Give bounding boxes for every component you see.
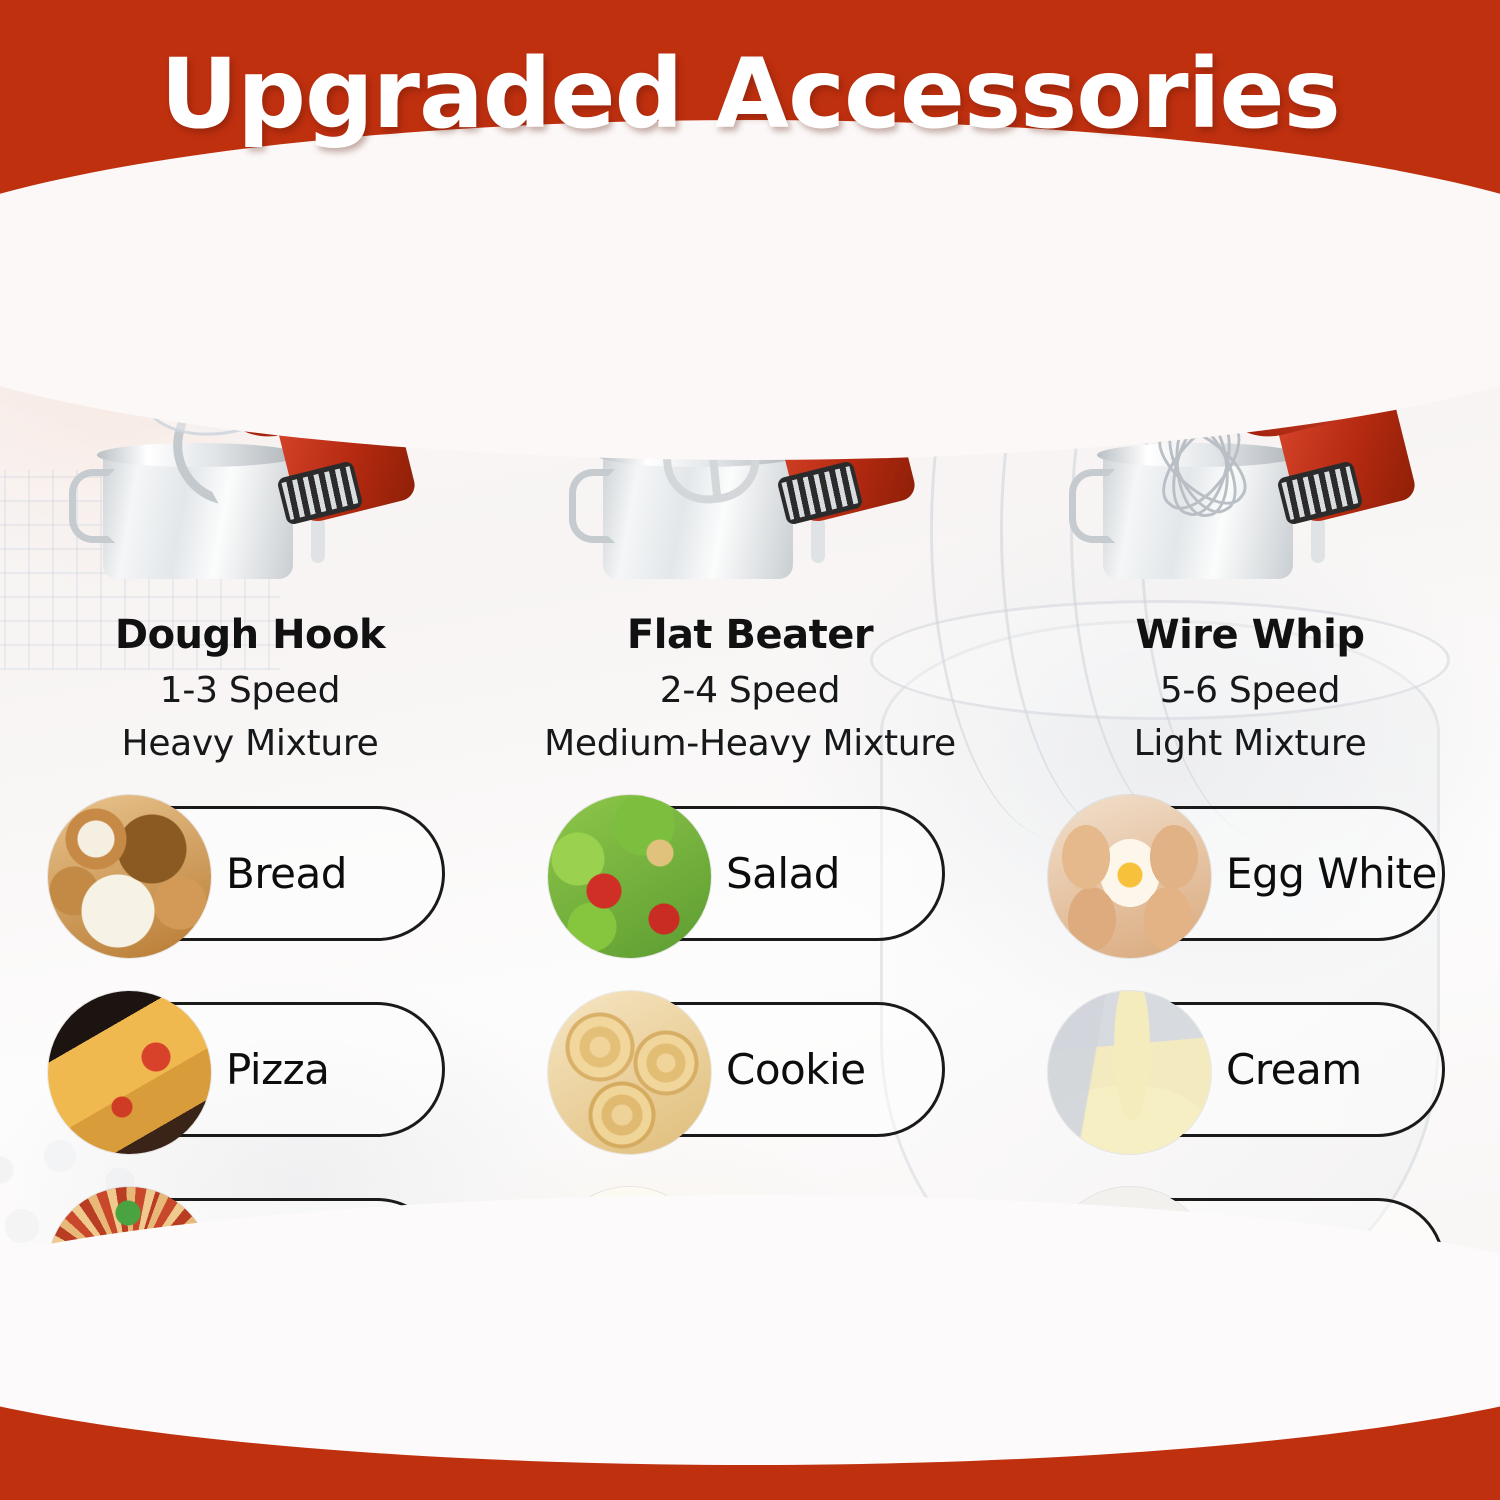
food-cell-flat-beater-2: Cookie <box>500 986 1000 1182</box>
food-label: Cookie <box>726 1045 924 1094</box>
accessory-speed: 2-4 Speed <box>500 670 1000 711</box>
accessory-speed: 5-6 Speed <box>1000 670 1500 711</box>
food-pill-bread[interactable]: Bread <box>55 806 445 941</box>
accessory-mixture: Heavy Mixture <box>0 723 500 764</box>
accessory-heading-wire-whip: Wire Whip 5-6 Speed Light Mixture <box>1000 612 1500 764</box>
cream-photo <box>1048 991 1211 1154</box>
food-pill-cream[interactable]: Cream <box>1055 1002 1445 1137</box>
food-cell-dough-hook-2: Pizza <box>0 986 500 1182</box>
accessory-name: Wire Whip <box>1000 612 1500 658</box>
accessory-heading-row: Dough Hook 1-3 Speed Heavy Mixture Flat … <box>0 612 1500 764</box>
food-row-2: Pizza Cookie Cream <box>0 986 1500 1182</box>
accessory-mixture: Light Mixture <box>1000 723 1500 764</box>
food-pill-cookie[interactable]: Cookie <box>555 1002 945 1137</box>
food-pill-salad[interactable]: Salad <box>555 806 945 941</box>
speed-lever <box>811 517 825 563</box>
accessory-name: Flat Beater <box>500 612 1000 658</box>
cookie-photo <box>548 991 711 1154</box>
food-label: Cream <box>1226 1045 1424 1094</box>
accessory-name: Dough Hook <box>0 612 500 658</box>
food-cell-wire-whip-1: Egg White <box>1000 790 1500 986</box>
food-cell-wire-whip-2: Cream <box>1000 986 1500 1182</box>
bread-photo <box>48 795 211 958</box>
pizza-photo <box>48 991 211 1154</box>
accessory-speed: 1-3 Speed <box>0 670 500 711</box>
food-label: Salad <box>726 849 924 898</box>
accessory-heading-dough-hook: Dough Hook 1-3 Speed Heavy Mixture <box>0 612 500 764</box>
bowl-handle <box>69 469 115 543</box>
salad-photo <box>548 795 711 958</box>
infographic-page: Upgraded Accessories <box>0 0 1500 1500</box>
speed-lever <box>311 517 325 563</box>
food-label: Bread <box>226 849 424 898</box>
food-pill-pizza[interactable]: Pizza <box>55 1002 445 1137</box>
accessory-heading-flat-beater: Flat Beater 2-4 Speed Medium-Heavy Mixtu… <box>500 612 1000 764</box>
accessory-mixture: Medium-Heavy Mixture <box>500 723 1000 764</box>
page-title: Upgraded Accessories <box>0 38 1500 150</box>
speed-lever <box>1311 517 1325 563</box>
food-label: Egg White <box>1226 849 1424 898</box>
food-cell-flat-beater-1: Salad <box>500 790 1000 986</box>
bowl-handle <box>1069 469 1115 543</box>
food-cell-dough-hook-1: Bread <box>0 790 500 986</box>
food-pill-egg-white[interactable]: Egg White <box>1055 806 1445 941</box>
bottom-banner <box>0 1325 1500 1500</box>
bowl-handle <box>569 469 615 543</box>
food-label: Pizza <box>226 1045 424 1094</box>
eggs-photo <box>1048 795 1211 958</box>
food-row-1: Bread Salad Egg White <box>0 790 1500 986</box>
